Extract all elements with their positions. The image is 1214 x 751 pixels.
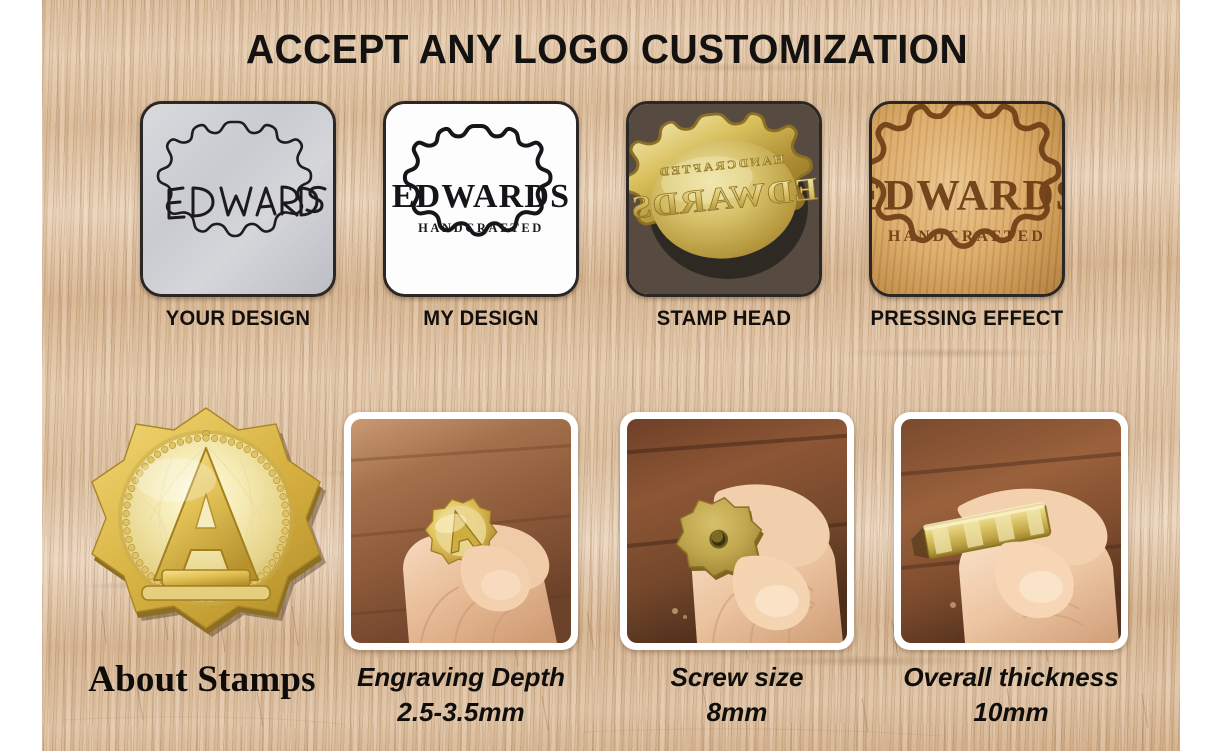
spec-label: Screw size — [592, 660, 882, 695]
caption-your-design: YOUR DESIGN — [130, 306, 346, 331]
spec-photo-engraving-depth[interactable] — [344, 412, 578, 650]
spec-value: 2.5-3.5mm — [316, 695, 606, 730]
step-panel-my-design[interactable]: EDWARDS HANDCRAFTED — [383, 101, 579, 297]
hand-drawn-logo-sketch — [143, 104, 333, 294]
photo-hand-holding-stamp-face — [351, 419, 571, 643]
step-panel-stamp-head[interactable]: HANDCRAFTED EDWARDS — [626, 101, 822, 297]
logo-wordmark: EDWARDS — [392, 178, 570, 215]
step-panel-pressing-effect[interactable]: EDWARDS HANDCRAFTED — [869, 101, 1065, 297]
white-artboard-surface: EDWARDS HANDCRAFTED — [386, 104, 576, 294]
brass-monogram-stamp — [72, 402, 340, 655]
pressed-wordmark: EDWARDS — [872, 172, 1062, 220]
caption-stamp-head: STAMP HEAD — [616, 306, 832, 331]
vector-logo-edwards: EDWARDS HANDCRAFTED — [386, 104, 576, 294]
spec-overall-thickness: Overall thickness 10mm — [866, 660, 1156, 730]
photo-hand-holding-stamp-back — [627, 419, 847, 643]
spec-label: Engraving Depth — [316, 660, 606, 695]
about-stamps-heading: About Stamps — [52, 658, 352, 701]
pressed-tagline: HANDCRAFTED — [888, 228, 1046, 245]
infographic-canvas: ACCEPT ANY LOGO CUSTOMIZATION — [0, 0, 1214, 751]
dark-wood-surface: HANDCRAFTED EDWARDS — [629, 104, 819, 294]
spec-photo-screw-size[interactable] — [620, 412, 854, 650]
brass-stamp-head: HANDCRAFTED EDWARDS — [629, 104, 819, 294]
step-panel-your-design[interactable] — [140, 101, 336, 297]
branded-impression-logo: EDWARDS HANDCRAFTED — [872, 104, 1062, 294]
logo-tagline: HANDCRAFTED — [418, 221, 544, 235]
spec-screw-size: Screw size 8mm — [592, 660, 882, 730]
spec-engraving-depth: Engraving Depth 2.5-3.5mm — [316, 660, 606, 730]
caption-my-design: MY DESIGN — [373, 306, 589, 331]
photo-hand-holding-stamp-edge — [901, 419, 1121, 643]
spec-value: 8mm — [592, 695, 882, 730]
spec-label: Overall thickness — [866, 660, 1156, 695]
page-title: ACCEPT ANY LOGO CUSTOMIZATION — [30, 26, 1183, 73]
caption-pressing-effect: PRESSING EFFECT — [859, 306, 1075, 331]
spec-photo-overall-thickness[interactable] — [894, 412, 1128, 650]
sketch-paper-surface — [143, 104, 333, 294]
leather-surface: EDWARDS HANDCRAFTED — [872, 104, 1062, 294]
spec-value: 10mm — [866, 695, 1156, 730]
